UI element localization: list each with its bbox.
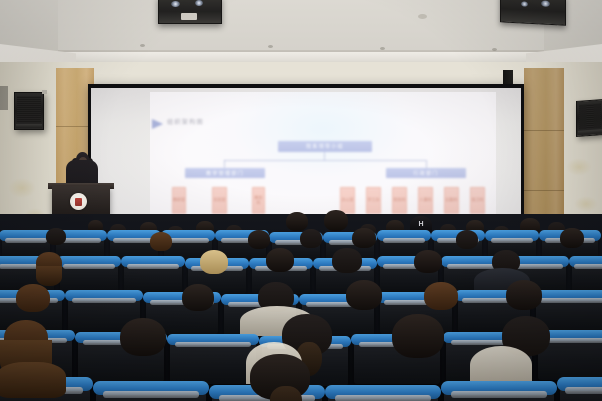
audience-head (266, 248, 294, 272)
audience-shoulders (470, 346, 532, 384)
institution-emblem-icon (70, 193, 87, 210)
auditorium-seat[interactable] (328, 390, 438, 401)
auditorium-seat[interactable] (170, 338, 256, 384)
audience-head (346, 280, 382, 310)
auditorium-seat[interactable] (572, 260, 602, 292)
audience-head (352, 228, 376, 248)
audience-head (324, 210, 348, 231)
audience-head (332, 248, 362, 273)
slide-node-mid-left: 教学管理部门 (185, 168, 265, 178)
ceiling-fixture-dot (140, 44, 145, 47)
slide-connector (224, 160, 225, 168)
slide-node-mid-right: 行政部门 (386, 168, 466, 178)
ceiling-fixture-dot (380, 47, 385, 50)
ceiling-fixture-dot (492, 48, 497, 51)
audience-head (120, 318, 166, 356)
wall-speaker-left-icon (14, 92, 44, 130)
slide-leaf-node: 学工办 (366, 187, 381, 214)
slide-connector (224, 160, 426, 161)
slide-leaf-node: 财务科 (392, 187, 407, 214)
projector-right-icon (500, 0, 566, 26)
audience-head (424, 282, 458, 310)
projection-screen: 组织架构图 院系领导小组 教学管理部门 行政部门 教研室 实验室 教务科 办公室… (88, 84, 524, 230)
slide-leaf-node: 人事科 (418, 187, 433, 214)
wall-texture (8, 178, 36, 198)
audience-head (300, 229, 322, 248)
ceiling-light-recess (418, 14, 427, 19)
auditorium-seat[interactable] (124, 260, 182, 292)
slide-heading: 组织架构图 (167, 117, 204, 126)
auditorium-seat[interactable] (96, 386, 206, 401)
slide-leaf-node: 教研室 (172, 187, 186, 214)
audience-head (560, 228, 584, 248)
slide-content: 组织架构图 院系领导小组 教学管理部门 行政部门 教研室 实验室 教务科 办公室… (150, 92, 496, 222)
ceiling-recess (58, 0, 544, 56)
audience-head (392, 314, 444, 358)
audience-head (182, 284, 214, 311)
auditorium-seat[interactable] (560, 382, 602, 401)
audience-head (456, 230, 478, 249)
projector-left-icon (158, 0, 222, 24)
audience-head (46, 228, 66, 245)
audience-head (248, 230, 270, 249)
wall-speaker-right-icon (576, 99, 602, 137)
slide-leaf-node: 办公室 (340, 187, 355, 214)
speaker-bracket-left (42, 90, 47, 94)
slide-leaf-node: 保卫科 (470, 187, 485, 214)
audience-hair (0, 362, 66, 398)
audience-head (150, 232, 172, 251)
slide-leaf-node: 实验室 (212, 187, 227, 214)
audience-head (16, 284, 50, 312)
slide-leaf-node: 后勤科 (444, 187, 459, 214)
audience-head (200, 250, 228, 274)
slide-connector (324, 152, 325, 160)
lecture-hall-photo: 组织架构图 院系领导小组 教学管理部门 行政部门 教研室 实验室 教务科 办公室… (0, 0, 602, 401)
wall-texture (574, 196, 598, 212)
ceiling-fixture-dot (268, 45, 273, 48)
audience-head (414, 250, 442, 273)
audience-hair (36, 266, 62, 286)
auditorium-seat[interactable] (60, 260, 118, 292)
audience-head (506, 280, 542, 310)
slide-bullet-arrow-icon (152, 119, 163, 129)
slide-leaf-node: 教务科 (252, 187, 265, 214)
wall-texture (566, 158, 592, 176)
slide-node-top: 院系领导小组 (278, 141, 372, 152)
slide-connector (426, 160, 427, 168)
audience-area: H (0, 214, 602, 401)
auditorium-seat[interactable] (444, 386, 554, 401)
audience-head (286, 212, 308, 231)
side-door-left (0, 86, 8, 110)
